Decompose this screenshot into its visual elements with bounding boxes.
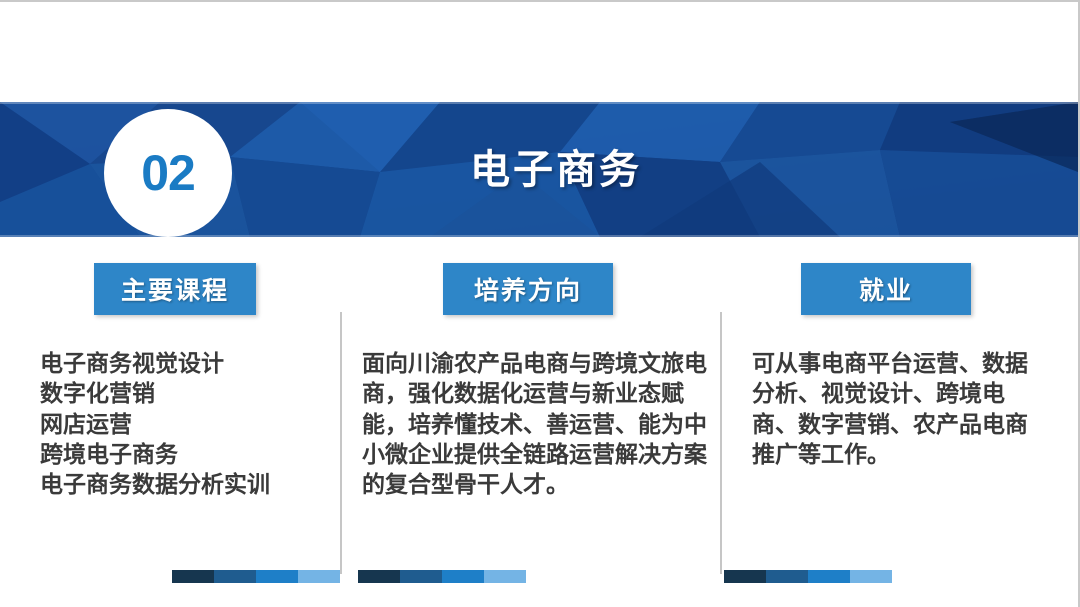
column-tab-training-direction[interactable]: 培养方向: [443, 263, 613, 315]
decor-bar: [724, 570, 892, 583]
section-number-circle: 02: [104, 109, 232, 237]
column-body-main-courses: 电子商务视觉设计 数字化营销 网店运营 跨境电子商务 电子商务数据分析实训: [40, 348, 332, 500]
decor-bar-segment: [484, 570, 526, 583]
column-tab-main-courses[interactable]: 主要课程: [94, 263, 256, 315]
column-divider: [340, 312, 342, 574]
decor-bar: [358, 570, 526, 583]
decor-bar-segment: [256, 570, 298, 583]
decor-bar-segment: [358, 570, 400, 583]
decor-bar-segment: [400, 570, 442, 583]
decor-bar-segment: [214, 570, 256, 583]
column-body-training-direction: 面向川渝农产品电商与跨境文旅电商，强化数据化运营与新业态赋能，培养懂技术、善运营…: [362, 348, 712, 500]
slide-canvas: 02 电子商务 主要课程 培养方向 就业 电子商务视觉设计 数字化营销 网店运营…: [0, 0, 1080, 607]
banner-top-highlight: [0, 102, 1078, 104]
decor-bar-segment: [808, 570, 850, 583]
column-tab-label: 培养方向: [474, 271, 582, 307]
column-divider: [720, 312, 722, 574]
decor-bar-segment: [766, 570, 808, 583]
section-number: 02: [141, 148, 195, 198]
decor-bar-segment: [298, 570, 340, 583]
column-tab-employment[interactable]: 就业: [801, 263, 971, 315]
column-body-employment: 可从事电商平台运营、数据分析、视觉设计、跨境电商、数字营销、农产品电商推广等工作…: [752, 348, 1040, 469]
decor-bar: [172, 570, 340, 583]
column-tab-label: 就业: [859, 271, 913, 307]
decor-bar-segment: [442, 570, 484, 583]
section-title: 电子商务: [470, 137, 642, 195]
decor-bar-segment: [850, 570, 892, 583]
header-banner: 02 电子商务: [0, 102, 1078, 237]
column-tab-label: 主要课程: [121, 271, 229, 307]
decor-bar-segment: [172, 570, 214, 583]
decor-bar-segment: [724, 570, 766, 583]
